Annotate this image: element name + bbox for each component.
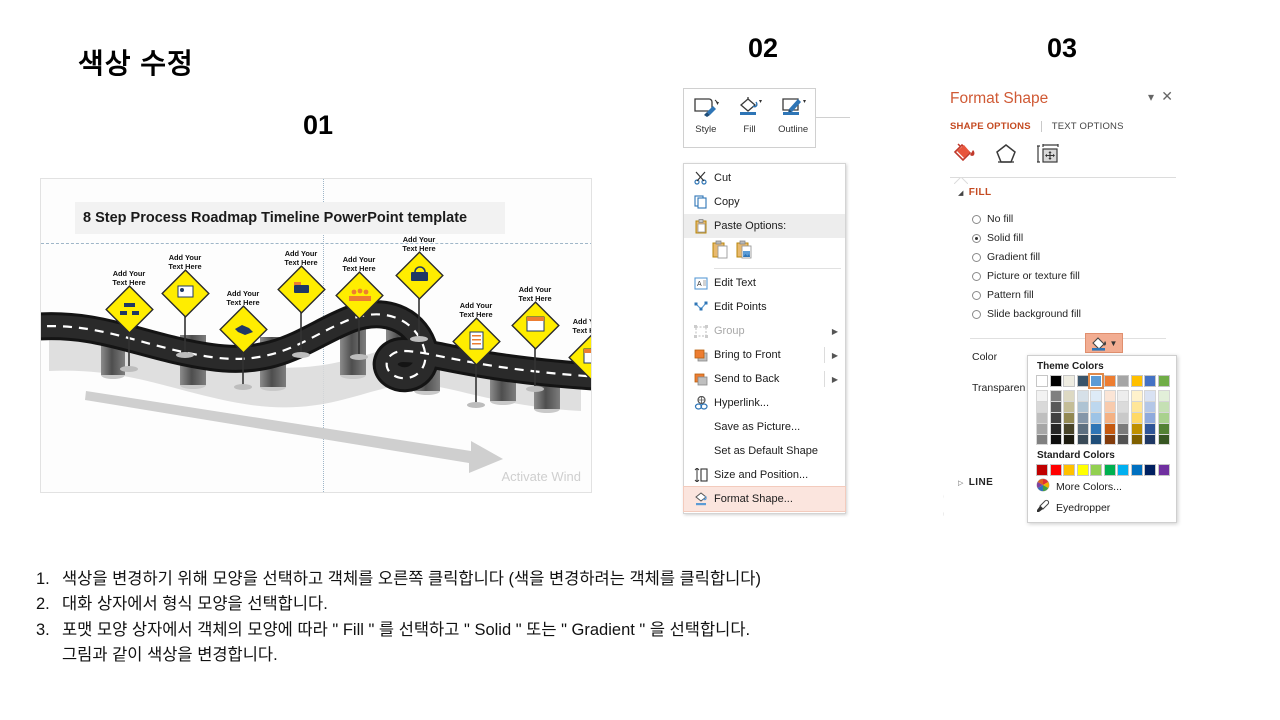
theme-shade-swatch[interactable] <box>1077 434 1089 445</box>
theme-shade-swatch[interactable] <box>1158 390 1170 401</box>
step-number-01: 01 <box>303 110 333 141</box>
theme-shade-swatch[interactable] <box>1158 412 1170 423</box>
radio-label: Gradient fill <box>987 251 1040 263</box>
theme-color-swatch[interactable] <box>1131 375 1143 387</box>
theme-shade-swatch[interactable] <box>1117 401 1129 412</box>
theme-shade-swatch[interactable] <box>1090 423 1102 434</box>
radio-slide-background-fill[interactable]: Slide background fill <box>972 308 1081 320</box>
bring-front-icon <box>688 346 714 364</box>
none-icon <box>688 442 714 460</box>
format-pane-tabs[interactable]: SHAPE OPTIONS TEXT OPTIONS <box>950 121 1124 132</box>
theme-shade-swatch[interactable] <box>1063 434 1075 445</box>
format-shape-icon <box>688 490 714 508</box>
theme-shade-swatch[interactable] <box>1158 423 1170 434</box>
theme-shade-swatch[interactable] <box>1050 423 1062 434</box>
theme-shade-column[interactable] <box>1050 390 1062 445</box>
paste-icon <box>688 217 714 235</box>
fill-section-label: FILL <box>969 187 992 198</box>
theme-shade-swatch[interactable] <box>1077 390 1089 401</box>
theme-shade-swatch[interactable] <box>1131 412 1143 423</box>
theme-shade-swatch[interactable] <box>1144 434 1156 445</box>
group-icon <box>688 322 714 340</box>
paste-keep-formatting-icon[interactable] <box>712 240 729 264</box>
pen-outline-icon <box>772 93 814 123</box>
context-menu-item-bring-to-front[interactable]: Bring to Front ▶ <box>684 343 845 367</box>
minibar-fill-button[interactable]: Fill <box>728 93 770 135</box>
context-menu-label: Save as Picture... <box>714 421 841 433</box>
theme-shade-swatch[interactable] <box>1131 401 1143 412</box>
theme-shade-column[interactable] <box>1090 390 1102 445</box>
context-menu-item-edit-text[interactable]: A Edit Text <box>684 271 845 295</box>
theme-shade-column[interactable] <box>1131 390 1143 445</box>
theme-shade-swatch[interactable] <box>1117 434 1129 445</box>
context-menu-label: Copy <box>714 196 841 208</box>
tab-shape-options[interactable]: SHAPE OPTIONS <box>950 121 1031 132</box>
radio-circle-icon <box>972 310 981 319</box>
theme-color-shades[interactable] <box>1028 390 1176 445</box>
roadmap-slide-screenshot: 8 Step Process Roadmap Timeline PowerPoi… <box>40 178 592 493</box>
theme-shade-swatch[interactable] <box>1104 401 1116 412</box>
theme-shade-swatch[interactable] <box>1050 401 1062 412</box>
theme-shade-swatch[interactable] <box>1036 423 1048 434</box>
context-menu-label: Size and Position... <box>714 469 841 481</box>
theme-shade-swatch[interactable] <box>1050 412 1062 423</box>
sign-label: Add Your Text Here <box>561 318 592 335</box>
instruction-number: 2. <box>36 593 62 616</box>
tab-text-options[interactable]: TEXT OPTIONS <box>1041 121 1124 132</box>
submenu-arrow-icon: ▶ <box>829 375 841 384</box>
theme-shade-swatch[interactable] <box>1063 390 1075 401</box>
theme-shade-swatch[interactable] <box>1050 434 1062 445</box>
instruction-item: 2. 대화 상자에서 형식 모양을 선택합니다. <box>36 593 1246 616</box>
line-section-header[interactable]: ▷LINE <box>958 477 993 488</box>
instruction-text: 색상을 변경하기 위해 모양을 선택하고 객체를 오른쪽 클릭합니다 (색을 변… <box>62 568 1246 591</box>
sign-label: Add Your Text Here <box>273 250 329 267</box>
theme-shade-swatch[interactable] <box>1090 434 1102 445</box>
fill-bucket-icon[interactable] <box>952 143 976 170</box>
svg-text:A: A <box>697 281 702 288</box>
theme-shade-column[interactable] <box>1158 390 1170 445</box>
expand-triangle-icon: ▷ <box>958 480 964 487</box>
sign-label: Add Your Text Here <box>391 236 447 253</box>
edit-text-icon: A <box>688 274 714 292</box>
none-icon <box>688 418 714 436</box>
theme-color-swatch[interactable] <box>1063 375 1075 387</box>
theme-shade-swatch[interactable] <box>1090 401 1102 412</box>
context-menu-item-cut[interactable]: Cut <box>684 166 845 190</box>
theme-shade-swatch[interactable] <box>1104 423 1116 434</box>
standard-color-swatch[interactable] <box>1158 464 1170 476</box>
radio-solid-fill[interactable]: Solid fill <box>972 232 1023 244</box>
theme-shade-column[interactable] <box>1077 390 1089 445</box>
context-menu-label: Edit Points <box>714 301 841 313</box>
edit-points-icon <box>688 298 714 316</box>
context-menu-label: Edit Text <box>714 277 841 289</box>
radio-label: Solid fill <box>987 232 1023 244</box>
radio-label: Pattern fill <box>987 289 1034 301</box>
theme-shade-swatch[interactable] <box>1036 390 1048 401</box>
size-position-icon <box>688 466 714 484</box>
more-colors-label: More Colors... <box>1056 481 1122 493</box>
page-title: 색상 수정 <box>78 42 194 82</box>
size-properties-icon[interactable] <box>1036 143 1060 170</box>
context-menu-item-hyperlink[interactable]: Hyperlink... <box>684 391 845 415</box>
paste-options-row[interactable] <box>684 238 845 266</box>
collapse-triangle-icon: ◢ <box>958 190 964 197</box>
minibar-style-button[interactable]: Style <box>685 93 727 135</box>
theme-color-swatch[interactable] <box>1050 375 1062 387</box>
roadmap-illustration <box>41 179 592 493</box>
context-menu-label: Paste Options: <box>714 220 841 232</box>
standard-color-swatch[interactable] <box>1050 464 1062 476</box>
theme-shade-swatch[interactable] <box>1050 390 1062 401</box>
submenu-arrow-icon: ▶ <box>829 327 841 336</box>
theme-color-swatch[interactable] <box>1036 375 1048 387</box>
eyedropper-option[interactable]: Eyedropper <box>1028 497 1176 518</box>
standard-color-swatch[interactable] <box>1063 464 1075 476</box>
line-section-label: LINE <box>969 477 993 488</box>
theme-shade-swatch[interactable] <box>1036 401 1048 412</box>
standard-colors-row[interactable] <box>1028 464 1176 476</box>
theme-color-swatch[interactable] <box>1144 375 1156 387</box>
sign-label: Add Your Text Here <box>101 270 157 287</box>
submenu-arrow-icon: ▶ <box>829 351 841 360</box>
context-menu-item-save-as-picture[interactable]: Save as Picture... <box>684 415 845 439</box>
radio-label: Slide background fill <box>987 308 1081 320</box>
pane-options-caret-icon[interactable]: ▾ <box>1148 90 1154 104</box>
theme-shade-swatch[interactable] <box>1158 434 1170 445</box>
theme-shade-swatch[interactable] <box>1077 401 1089 412</box>
radio-label: No fill <box>987 213 1013 225</box>
context-menu-label: Send to Back <box>714 373 829 385</box>
theme-shade-swatch[interactable] <box>1077 412 1089 423</box>
step-number-02: 02 <box>748 33 778 64</box>
fill-divider <box>970 338 1166 339</box>
instruction-text: 대화 상자에서 형식 모양을 선택합니다. <box>62 593 1246 616</box>
step-number-03: 03 <box>1047 33 1077 64</box>
theme-shade-column[interactable] <box>1063 390 1075 445</box>
send-back-icon <box>688 370 714 388</box>
context-menu-label: Cut <box>714 172 841 184</box>
instructions-list: 1. 색상을 변경하기 위해 모양을 선택하고 객체를 오른쪽 클릭합니다 (색… <box>36 568 1246 668</box>
pane-close-icon[interactable]: ✕ <box>1161 88 1173 105</box>
context-menu-label: Hyperlink... <box>714 397 841 409</box>
instruction-item: 1. 색상을 변경하기 위해 모양을 선택하고 객체를 오른쪽 클릭합니다 (색… <box>36 568 1246 591</box>
copy-icon <box>688 193 714 211</box>
theme-shade-swatch[interactable] <box>1063 423 1075 434</box>
theme-color-swatch[interactable] <box>1090 375 1102 387</box>
theme-shade-swatch[interactable] <box>1131 423 1143 434</box>
minibar-outline-label: Outline <box>772 124 814 135</box>
context-menu[interactable]: Cut Copy Paste Options: A <box>683 163 846 514</box>
standard-color-swatch[interactable] <box>1090 464 1102 476</box>
transparency-field-label: Transparen <box>972 382 1025 394</box>
theme-shade-swatch[interactable] <box>1144 412 1156 423</box>
theme-shade-column[interactable] <box>1117 390 1129 445</box>
theme-shade-swatch[interactable] <box>1117 412 1129 423</box>
theme-color-swatch[interactable] <box>1117 375 1129 387</box>
standard-color-swatch[interactable] <box>1036 464 1048 476</box>
format-shape-title: Format Shape <box>950 90 1048 108</box>
radio-circle-icon <box>972 291 981 300</box>
theme-colors-heading: Theme Colors <box>1028 356 1176 375</box>
context-menu-label: Set as Default Shape <box>714 445 841 457</box>
theme-shade-swatch[interactable] <box>1144 423 1156 434</box>
effects-pentagon-icon[interactable] <box>994 143 1018 170</box>
theme-shade-swatch[interactable] <box>1158 401 1170 412</box>
context-menu-item-send-to-back[interactable]: Send to Back ▶ <box>684 367 845 391</box>
context-menu-item-copy[interactable]: Copy <box>684 190 845 214</box>
standard-color-swatch[interactable] <box>1077 464 1089 476</box>
radio-pattern-fill[interactable]: Pattern fill <box>972 289 1034 301</box>
minibar-style-label: Style <box>685 124 727 135</box>
minibar-connector <box>816 117 850 118</box>
shape-style-icon <box>685 93 727 123</box>
slide-page: 색상 수정 01 02 03 8 Step Process Roadmap Ti… <box>0 0 1280 720</box>
theme-shade-swatch[interactable] <box>1090 412 1102 423</box>
radio-circle-icon <box>972 234 981 243</box>
theme-shade-swatch[interactable] <box>1131 390 1143 401</box>
context-menu-item-format-shape[interactable]: Format Shape... <box>684 487 845 511</box>
radio-circle-icon <box>972 272 981 281</box>
theme-shade-swatch[interactable] <box>1063 412 1075 423</box>
paste-picture-icon[interactable] <box>736 240 753 264</box>
theme-shade-swatch[interactable] <box>1144 390 1156 401</box>
radio-gradient-fill[interactable]: Gradient fill <box>972 251 1040 263</box>
radio-no-fill[interactable]: No fill <box>972 213 1013 225</box>
standard-colors-heading: Standard Colors <box>1028 445 1176 464</box>
radio-picture-texture-fill[interactable]: Picture or texture fill <box>972 270 1080 282</box>
scissors-icon <box>688 169 714 187</box>
color-wheel-icon <box>1036 478 1050 495</box>
radio-circle-icon <box>972 215 981 224</box>
radio-label: Picture or texture fill <box>987 270 1080 282</box>
theme-color-swatch[interactable] <box>1077 375 1089 387</box>
instruction-number: 3. <box>36 619 62 642</box>
theme-shade-swatch[interactable] <box>1063 401 1075 412</box>
sign-label: Add Your Text Here <box>157 254 213 271</box>
instruction-number: 1. <box>36 568 62 591</box>
minibar-outline-button[interactable]: Outline <box>772 93 814 135</box>
menu-separator <box>714 268 841 269</box>
chevron-down-icon[interactable]: ▼ <box>1110 339 1118 348</box>
theme-shade-swatch[interactable] <box>1131 434 1143 445</box>
color-field-label: Color <box>972 351 997 363</box>
standard-color-swatch[interactable] <box>1117 464 1129 476</box>
theme-shade-column[interactable] <box>1104 390 1116 445</box>
pane-divider <box>950 177 1176 178</box>
sign-label: Add Your Text Here <box>331 256 387 273</box>
context-menu-label: Format Shape... <box>714 493 841 505</box>
paint-bucket-small-icon <box>1091 336 1108 351</box>
theme-shade-swatch[interactable] <box>1117 390 1129 401</box>
theme-color-swatch[interactable] <box>1158 375 1170 387</box>
theme-shade-column[interactable] <box>1036 390 1048 445</box>
theme-color-swatch[interactable] <box>1104 375 1116 387</box>
theme-shade-swatch[interactable] <box>1036 412 1048 423</box>
standard-color-swatch[interactable] <box>1144 464 1156 476</box>
eyedropper-icon <box>1036 499 1050 516</box>
theme-shade-swatch[interactable] <box>1036 434 1048 445</box>
pane-divider-notch <box>954 171 968 178</box>
theme-colors-row[interactable] <box>1028 375 1176 387</box>
sign-label: Add Your Text Here <box>215 290 271 307</box>
theme-shade-swatch[interactable] <box>1104 434 1116 445</box>
minibar-fill-label: Fill <box>728 124 770 135</box>
hyperlink-icon <box>688 394 714 412</box>
context-menu-label: Group <box>714 325 829 337</box>
theme-shade-swatch[interactable] <box>1144 401 1156 412</box>
context-menu-label: Bring to Front <box>714 349 829 361</box>
context-menu-item-set-default-shape[interactable]: Set as Default Shape <box>684 439 845 463</box>
context-menu-item-size-and-position[interactable]: Size and Position... <box>684 463 845 487</box>
instruction-continuation: 그림과 같이 색상을 변경합니다. <box>62 644 1246 667</box>
instruction-item: 3. 포맷 모양 상자에서 객체의 모양에 따라 " Fill " 를 선택하고… <box>36 619 1246 642</box>
theme-shade-swatch[interactable] <box>1104 390 1116 401</box>
fill-section-header[interactable]: ◢FILL <box>958 187 992 198</box>
mini-toolbar[interactable]: Style Fill <box>683 88 816 148</box>
theme-shade-swatch[interactable] <box>1077 423 1089 434</box>
fill-color-button[interactable]: ▼ <box>1085 333 1123 353</box>
context-menu-item-edit-points[interactable]: Edit Points <box>684 295 845 319</box>
sign-label: Add Your Text Here <box>507 286 563 303</box>
standard-color-swatch[interactable] <box>1131 464 1143 476</box>
radio-circle-icon <box>972 253 981 262</box>
theme-shade-swatch[interactable] <box>1090 390 1102 401</box>
context-menu-item-group[interactable]: Group ▶ <box>684 319 845 343</box>
format-pane-icon-row[interactable] <box>952 143 1060 170</box>
slide-activate-windows-watermark: Activate Wind <box>502 469 581 484</box>
more-colors-option[interactable]: More Colors... <box>1028 476 1176 497</box>
color-dropdown[interactable]: Theme Colors Standard Colors More Colors… <box>1027 355 1177 523</box>
sign-label: Add Your Text Here <box>448 302 504 319</box>
theme-shade-column[interactable] <box>1144 390 1156 445</box>
context-menu-item-paste-options[interactable]: Paste Options: <box>684 214 845 238</box>
theme-shade-swatch[interactable] <box>1117 423 1129 434</box>
eyedropper-label: Eyedropper <box>1056 502 1110 514</box>
standard-color-swatch[interactable] <box>1104 464 1116 476</box>
instruction-text: 포맷 모양 상자에서 객체의 모양에 따라 " Fill " 를 선택하고 " … <box>62 619 1246 642</box>
paint-bucket-icon <box>728 93 770 123</box>
theme-shade-swatch[interactable] <box>1104 412 1116 423</box>
